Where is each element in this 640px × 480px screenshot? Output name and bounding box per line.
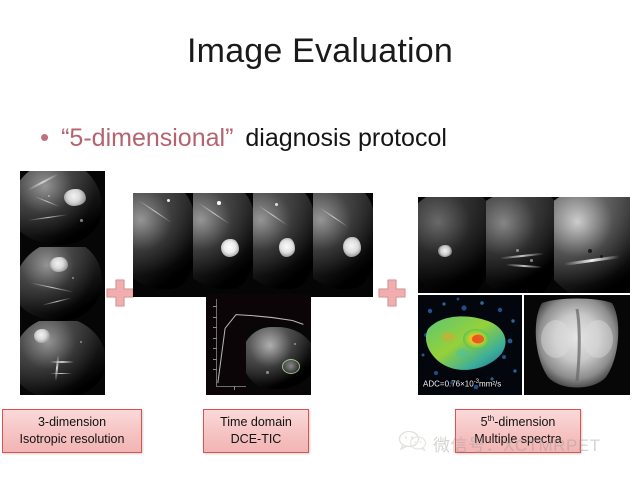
caption-time-line1: Time domain [220, 414, 292, 431]
adc-units: mm²/s [479, 380, 501, 389]
bullet-line: • “5-dimensional” diagnosis protocol [40, 124, 447, 153]
dce-frame-4 [313, 193, 373, 297]
image-group-multiparametric [418, 197, 630, 293]
adc-value-annotation: ADC=0.76×10-3mm²/s [423, 379, 501, 389]
mri-slice-axial-2 [20, 247, 105, 321]
bullet-quoted-text: “5-dimensional” [61, 124, 233, 153]
mri-frame-t2 [486, 197, 554, 293]
caption-3-dimension: 3-dimension Isotropic resolution [2, 409, 142, 453]
bullet-rest-text: diagnosis protocol [245, 124, 447, 153]
caption-spectra-prefix: 5 [481, 415, 488, 429]
dce-frame-3 [253, 193, 313, 297]
caption-3d-line1: 3-dimension [38, 414, 106, 431]
plus-connector-2 [378, 279, 406, 307]
caption-time-domain: Time domain DCE-TIC [203, 409, 309, 453]
dce-frame-2 [193, 193, 253, 297]
adc-prefix: ADC=0.76×10 [423, 380, 474, 389]
dce-frame-1 [133, 193, 193, 297]
caption-spectra-suffix: -dimension [494, 415, 555, 429]
bullet-marker: • [40, 124, 49, 150]
plus-connector-1 [106, 279, 134, 307]
caption-spectra-line1: 5th-dimension [481, 414, 556, 431]
caption-time-line2: DCE-TIC [231, 431, 282, 448]
image-group-adc-map: ADC=0.76×10-3mm²/s [418, 295, 522, 395]
mri-slice-axial-3 [20, 321, 105, 395]
mri-frame-t1-fs [554, 197, 630, 293]
image-group-3d-isotropic [20, 171, 105, 395]
page-title: Image Evaluation [0, 32, 640, 71]
image-group-dce-series [133, 193, 373, 297]
caption-3d-line2: Isotropic resolution [20, 431, 125, 448]
mri-slice-axial-1 [20, 171, 105, 247]
caption-spectra-line2: Multiple spectra [474, 431, 562, 448]
caption-5th-dimension: 5th-dimension Multiple spectra [455, 409, 581, 453]
tic-inset-mri [246, 325, 311, 391]
mri-frame-dwi [418, 197, 486, 293]
wechat-icon [398, 431, 428, 456]
image-group-tic-curve [206, 294, 311, 395]
tic-plot-area [216, 299, 307, 387]
image-group-mip-volume [524, 295, 630, 395]
